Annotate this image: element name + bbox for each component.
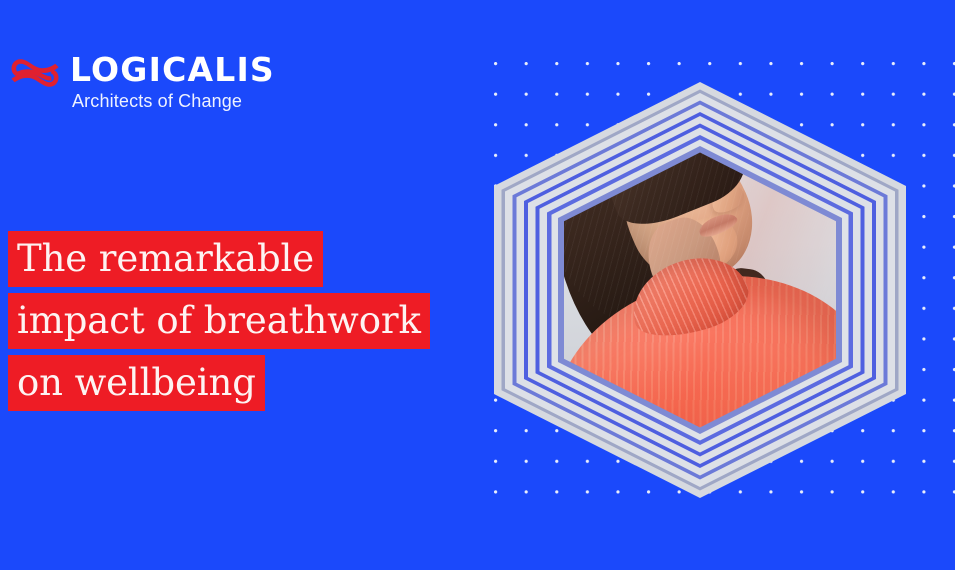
headline-line-3: on wellbeing [8,355,265,411]
marketing-banner: LOGICALIS Architects of Change The remar… [0,0,955,570]
headline-line-1: The remarkable [8,231,323,287]
headline-line-2: impact of breathwork [8,293,430,349]
headline: The remarkable impact of breathwork on w… [8,231,430,411]
logicalis-tagline: Architects of Change [72,90,242,112]
logicalis-infinity-wave-mark-icon [10,56,60,90]
logicalis-logo[interactable]: LOGICALIS Architects of Change [10,52,280,114]
logicalis-wordmark: LOGICALIS [70,52,275,88]
concentric-hexagon-frame [494,82,906,498]
